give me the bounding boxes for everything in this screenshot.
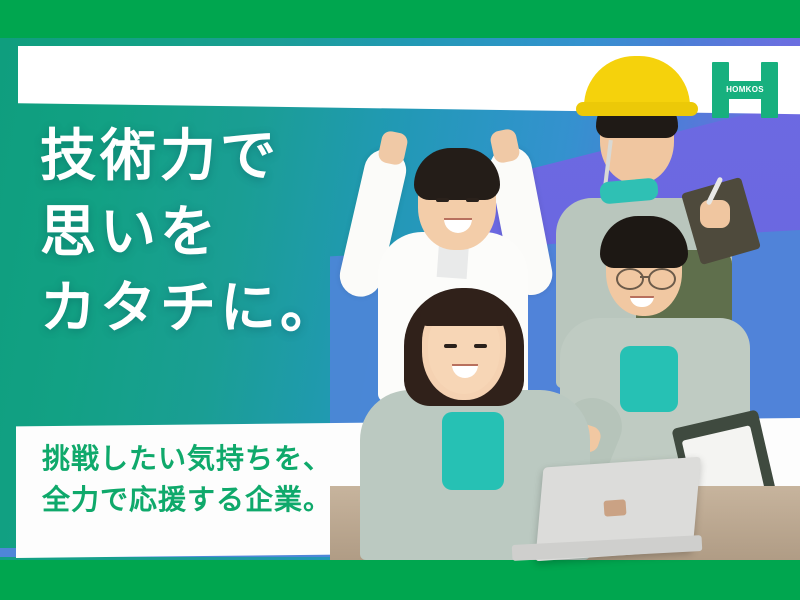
headline-line-2: 思いを: [40, 194, 340, 270]
logo-wordmark: HOMKOS: [712, 82, 778, 98]
subcopy-line-2: 全力で応援する企業。: [42, 479, 332, 520]
headline-line-1: 技術力で: [40, 118, 340, 194]
page-title: 技術力で 思いを カタチに。: [40, 118, 340, 346]
top-green-band: [0, 0, 800, 40]
subcopy-line-1: 挑戦したい気持ちを、: [42, 438, 332, 479]
recruitment-poster: 技術力で 思いを カタチに。 挑戦したい気持ちを、 全力で応援する企業。 HOM…: [0, 0, 800, 600]
brand-logo[interactable]: HOMKOS: [712, 62, 778, 118]
headline-line-3: カタチに。: [40, 270, 340, 346]
subheadline: 挑戦したい気持ちを、 全力で応援する企業。: [42, 438, 332, 520]
bottom-green-band: [0, 556, 800, 600]
